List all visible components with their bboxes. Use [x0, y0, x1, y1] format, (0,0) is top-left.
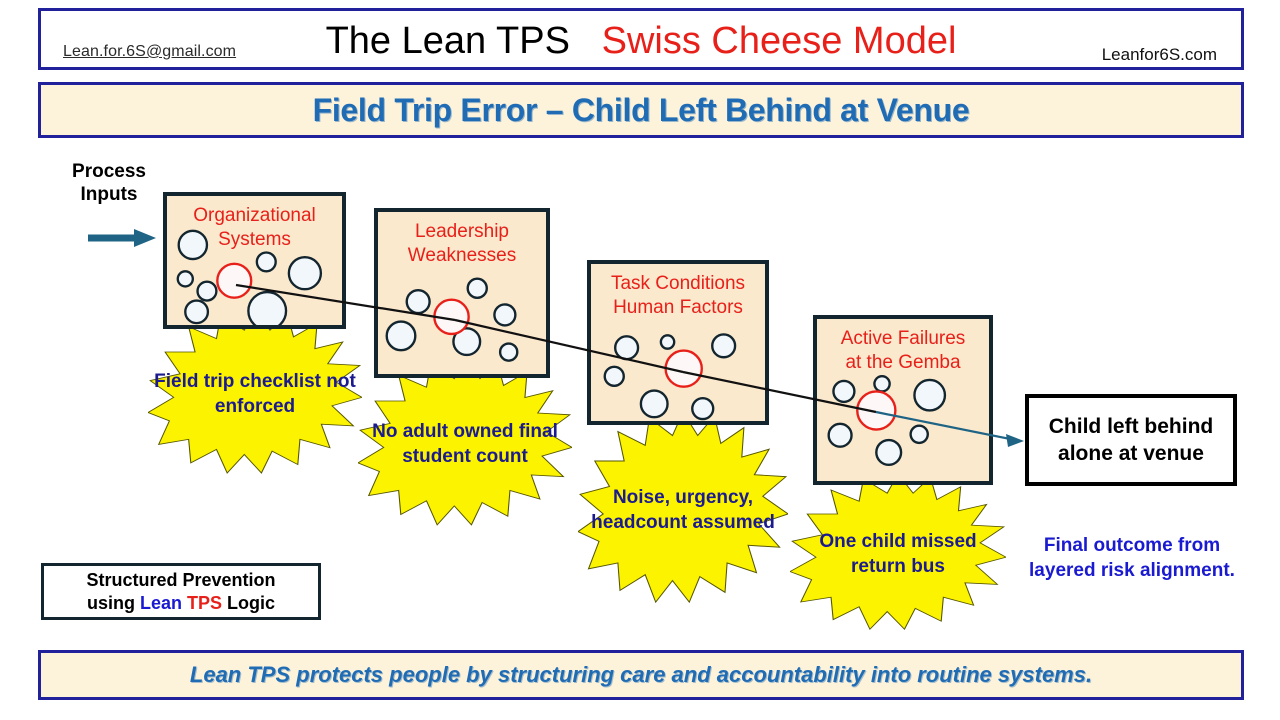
- prevention-line1: Structured Prevention: [86, 569, 275, 592]
- burst-no-adult-count: No adult owned final student count: [358, 358, 572, 530]
- footer-text: Lean TPS protects people by structuring …: [190, 662, 1092, 688]
- trajectory-arrowhead: [1006, 434, 1024, 447]
- outcome-text: Child left behind alone at venue: [1029, 413, 1233, 467]
- burst-field-trip-checklist: Field trip checklist not enforced: [148, 310, 362, 478]
- page-title-black: The Lean TPS: [326, 20, 570, 62]
- aligned-hole: [857, 391, 895, 429]
- prevention-text: Structured Prevention using Lean TPS Log…: [86, 569, 275, 615]
- outcome-box: Child left behind alone at venue: [1025, 394, 1237, 486]
- prevention-tps: TPS: [187, 593, 222, 613]
- cheese-slice-active-failures[interactable]: Active Failures at the Gemba: [813, 315, 993, 485]
- page-title: The Lean TPS Swiss Cheese Model: [41, 17, 1241, 65]
- burst-one-child-missed-bus: One child missed return bus: [790, 474, 1006, 634]
- aligned-hole: [666, 351, 702, 387]
- website-link[interactable]: Leanfor6S.com: [1102, 45, 1217, 65]
- subtitle-text: Field Trip Error – Child Left Behind at …: [313, 92, 970, 129]
- slice-holes: [591, 264, 765, 421]
- process-inputs-line2: Inputs: [53, 183, 165, 206]
- prevention-logic: Logic: [222, 593, 275, 613]
- aligned-hole: [217, 264, 251, 298]
- prevention-line2: using Lean TPS Logic: [86, 592, 275, 615]
- prevention-lean: Lean: [140, 593, 182, 613]
- process-inputs-arrow-icon: [86, 226, 158, 255]
- cheese-slice-leadership-weaknesses[interactable]: Leadership Weaknesses: [374, 208, 550, 378]
- cheese-slice-organizational-systems[interactable]: Organizational Systems: [163, 192, 346, 329]
- aligned-hole: [434, 300, 468, 334]
- final-outcome-note: Final outcome from layered risk alignmen…: [1012, 533, 1252, 583]
- header-bar: Lean.for.6S@gmail.com The Lean TPS Swiss…: [38, 8, 1244, 70]
- process-inputs-line1: Process: [53, 160, 165, 183]
- structured-prevention-box: Structured Prevention using Lean TPS Log…: [41, 563, 321, 620]
- prevention-using: using: [87, 593, 140, 613]
- subtitle-bar: Field Trip Error – Child Left Behind at …: [38, 82, 1244, 138]
- process-inputs-label: Process Inputs: [53, 160, 165, 206]
- footer-bar: Lean TPS protects people by structuring …: [38, 650, 1244, 700]
- slice-holes: [817, 319, 989, 481]
- page-title-red: Swiss Cheese Model: [602, 20, 957, 62]
- slice-holes: [378, 212, 546, 374]
- slice-holes: [167, 196, 342, 325]
- burst-noise-urgency-headcount: Noise, urgency, headcount assumed: [578, 412, 788, 608]
- cheese-slice-task-conditions[interactable]: Task Conditions Human Factors: [587, 260, 769, 425]
